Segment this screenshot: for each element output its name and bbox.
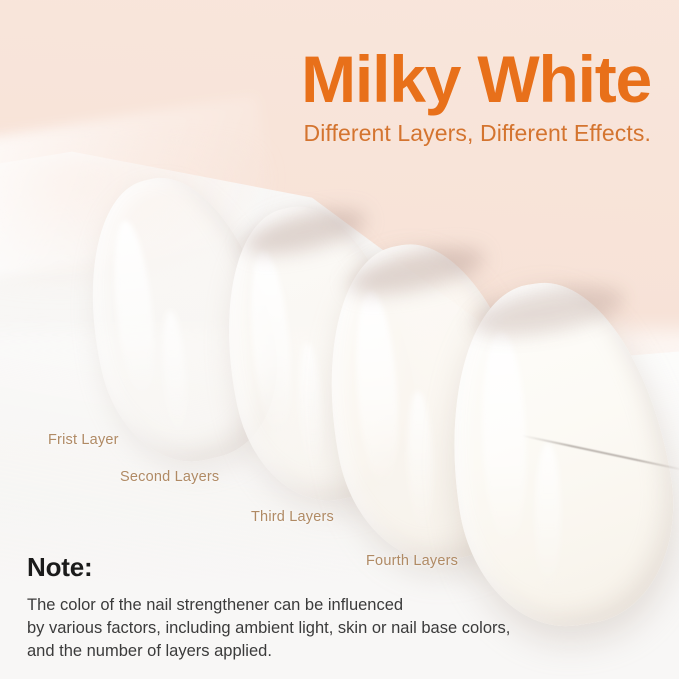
note-body: The color of the nail strengthener can b… xyxy=(27,594,637,663)
layer-label-third: Third Layers xyxy=(251,509,334,525)
note-title: Note: xyxy=(27,552,637,583)
layer-label-second: Second Layers xyxy=(120,469,219,485)
product-marketing-image: Milky White Different Layers, Different … xyxy=(0,0,679,679)
page-subtitle: Different Layers, Different Effects. xyxy=(181,121,651,146)
note-line: by various factors, including ambient li… xyxy=(27,617,637,640)
note-block: Note: The color of the nail strengthener… xyxy=(27,552,637,663)
layer-label-first: Frist Layer xyxy=(48,432,119,448)
note-line: The color of the nail strengthener can b… xyxy=(27,594,637,617)
page-title: Milky White xyxy=(181,46,651,112)
headline-block: Milky White Different Layers, Different … xyxy=(181,46,651,146)
note-line: and the number of layers applied. xyxy=(27,640,637,663)
